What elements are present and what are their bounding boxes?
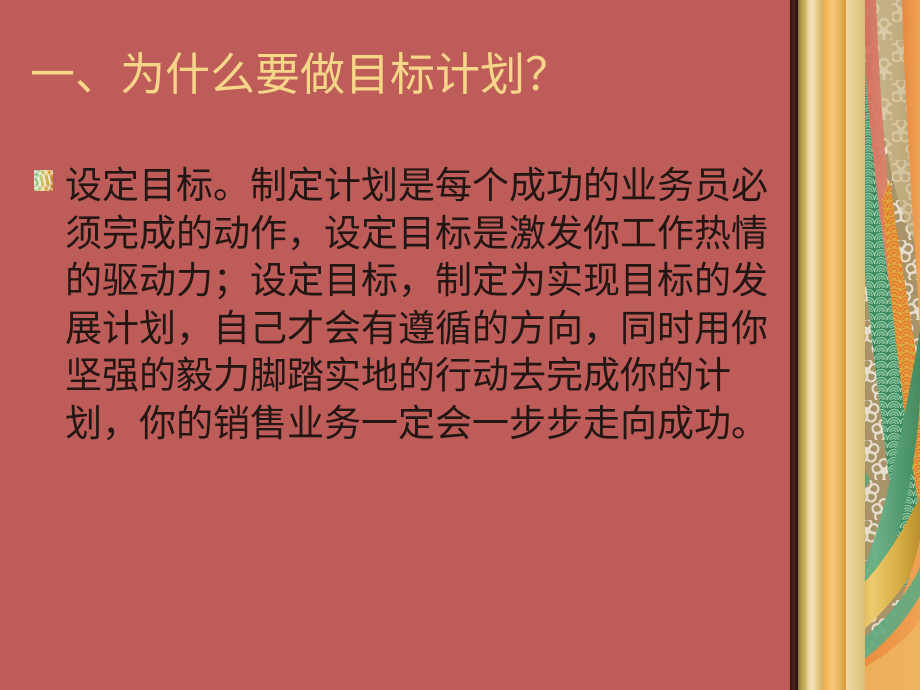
decorative-border	[790, 0, 920, 690]
gold-strip-olive	[798, 0, 807, 690]
bullet-row: 设定目标。制定计划是每个成功的业务员必须完成的动作，设定目标是激发你工作热情的驱…	[34, 162, 774, 447]
gold-strip-pale	[843, 0, 865, 690]
slide-body-block: 设定目标。制定计划是每个成功的业务员必须完成的动作，设定目标是激发你工作热情的驱…	[34, 162, 774, 447]
decorative-square-bullet-icon	[34, 170, 53, 191]
presentation-slide: 一、为什么要做目标计划？ 设定目标。制定计划是每个成功的业务员必须完成的动作，设…	[0, 0, 920, 690]
gold-strip-bright	[820, 0, 846, 690]
body-paragraph: 设定目标。制定计划是每个成功的业务员必须完成的动作，设定目标是激发你工作热情的驱…	[34, 162, 774, 447]
gold-strip-cream	[807, 0, 823, 690]
slide-content-area: 一、为什么要做目标计划？ 设定目标。制定计划是每个成功的业务员必须完成的动作，设…	[0, 0, 790, 690]
slide-title: 一、为什么要做目标计划？	[30, 46, 770, 104]
border-bevel-edge	[790, 0, 798, 690]
